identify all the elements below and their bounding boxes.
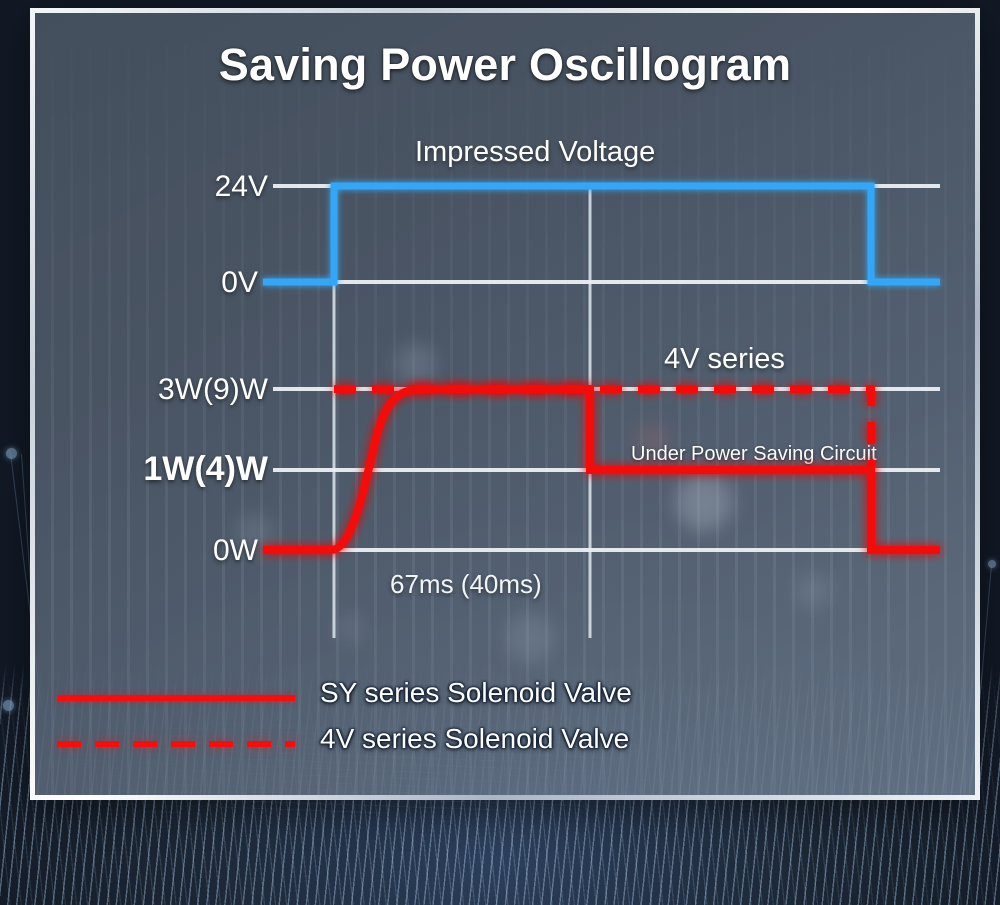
chart-panel: Saving Power Oscillogram Impressed Volta… xyxy=(30,8,980,800)
series-impressed-voltage xyxy=(263,186,940,282)
series-4v-solenoid-valve xyxy=(334,389,871,470)
legend-label-4v-series: 4V series Solenoid Valve xyxy=(320,723,629,755)
legend-swatch-dashed-line xyxy=(57,741,295,747)
legend-swatch-solid-line xyxy=(57,695,295,701)
oscillogram-infographic: Saving Power Oscillogram Impressed Volta… xyxy=(0,0,1000,905)
legend-label-sy-series: SY series Solenoid Valve xyxy=(320,677,632,709)
network-node xyxy=(988,560,996,568)
gridlines-vertical xyxy=(334,186,590,638)
network-node xyxy=(3,700,14,711)
series-sy-solenoid-valve xyxy=(263,389,940,550)
